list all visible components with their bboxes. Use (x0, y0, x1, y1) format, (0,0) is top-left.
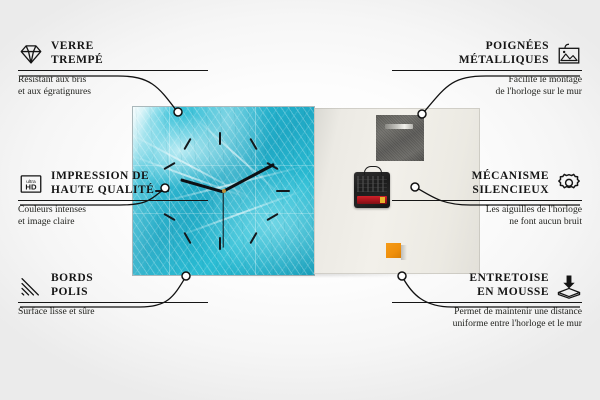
feature-title: VERRE TREMPÉ (51, 40, 103, 67)
bracket-slot (385, 124, 413, 129)
svg-text:HD: HD (25, 182, 37, 191)
second-hand (222, 191, 223, 247)
feature-mecanisme-silencieux: MÉCANISME SILENCIEUX Les aiguilles de l'… (392, 170, 582, 228)
hour-marker-4 (266, 213, 278, 221)
hour-marker-6 (219, 237, 221, 250)
foam-spacer (386, 243, 401, 258)
feature-divider (18, 70, 208, 71)
feature-description: Couleurs intenses et image claire (18, 204, 208, 227)
feature-poignees-metalliques: POIGNÉES MÉTALLIQUES Facilite le montage… (392, 40, 582, 98)
hour-marker-3 (276, 190, 290, 192)
feature-bords-polis: BORDS POLIS Surface lisse et sûre (18, 272, 208, 318)
feature-verre-trempe: VERRE TREMPÉ Résistant aux bris et aux é… (18, 40, 208, 98)
infographic-canvas: VERRE TREMPÉ Résistant aux bris et aux é… (0, 0, 600, 400)
feature-heading: VERRE TREMPÉ (18, 40, 208, 67)
feature-heading: POIGNÉES MÉTALLIQUES (392, 40, 582, 67)
feature-description: Résistant aux bris et aux égratignures (18, 74, 208, 97)
feature-title: BORDS POLIS (51, 272, 93, 299)
feature-divider (392, 200, 582, 201)
feature-divider (392, 302, 582, 303)
hour-marker-7 (183, 232, 191, 244)
hour-marker-11 (183, 138, 191, 150)
feature-description: Les aiguilles de l'horloge ne font aucun… (392, 204, 582, 227)
hour-marker-1 (249, 138, 257, 150)
feature-divider (392, 70, 582, 71)
battery-terminal (380, 197, 385, 203)
picture-hanger-icon (556, 41, 582, 67)
feature-description: Facilite le montage de l'horloge sur le … (392, 74, 582, 97)
feature-title: POIGNÉES MÉTALLIQUES (459, 40, 549, 67)
metal-hanging-bracket (376, 115, 424, 161)
hour-marker-5 (249, 232, 257, 244)
foam-spacer-icon (556, 273, 582, 299)
hour-marker-12 (219, 132, 221, 145)
feature-title: ENTRETOISE EN MOUSSE (469, 272, 549, 299)
feature-entretoise-en-mousse: ENTRETOISE EN MOUSSE Permet de maintenir… (392, 272, 582, 330)
bracket-texture (376, 115, 424, 161)
feature-heading: ENTRETOISE EN MOUSSE (392, 272, 582, 299)
feature-title: MÉCANISME SILENCIEUX (472, 170, 549, 197)
gear-icon (556, 171, 582, 197)
feature-heading: ultra HD IMPRESSION DE HAUTE QUALITÉ (18, 170, 208, 197)
feature-divider (18, 302, 208, 303)
feature-title: IMPRESSION DE HAUTE QUALITÉ (51, 170, 154, 197)
diamond-icon (18, 41, 44, 67)
polished-edge-icon (18, 273, 44, 299)
feature-description: Permet de maintenir une distance uniform… (392, 306, 582, 329)
quartz-movement (354, 172, 390, 208)
ultra-hd-icon: ultra HD (18, 171, 44, 197)
movement-hanger-loop (364, 166, 382, 175)
minute-hand (222, 163, 275, 193)
hand-center-cap (222, 189, 226, 193)
hour-marker-10 (163, 162, 175, 170)
feature-heading: MÉCANISME SILENCIEUX (392, 170, 582, 197)
feature-description: Surface lisse et sûre (18, 306, 208, 318)
feature-divider (18, 200, 208, 201)
movement-texture (357, 176, 387, 192)
feature-impression-haute-qualite: ultra HD IMPRESSION DE HAUTE QUALITÉ Cou… (18, 170, 208, 228)
foam-spacer-shadow (401, 245, 407, 260)
feature-heading: BORDS POLIS (18, 272, 208, 299)
battery (357, 196, 387, 204)
